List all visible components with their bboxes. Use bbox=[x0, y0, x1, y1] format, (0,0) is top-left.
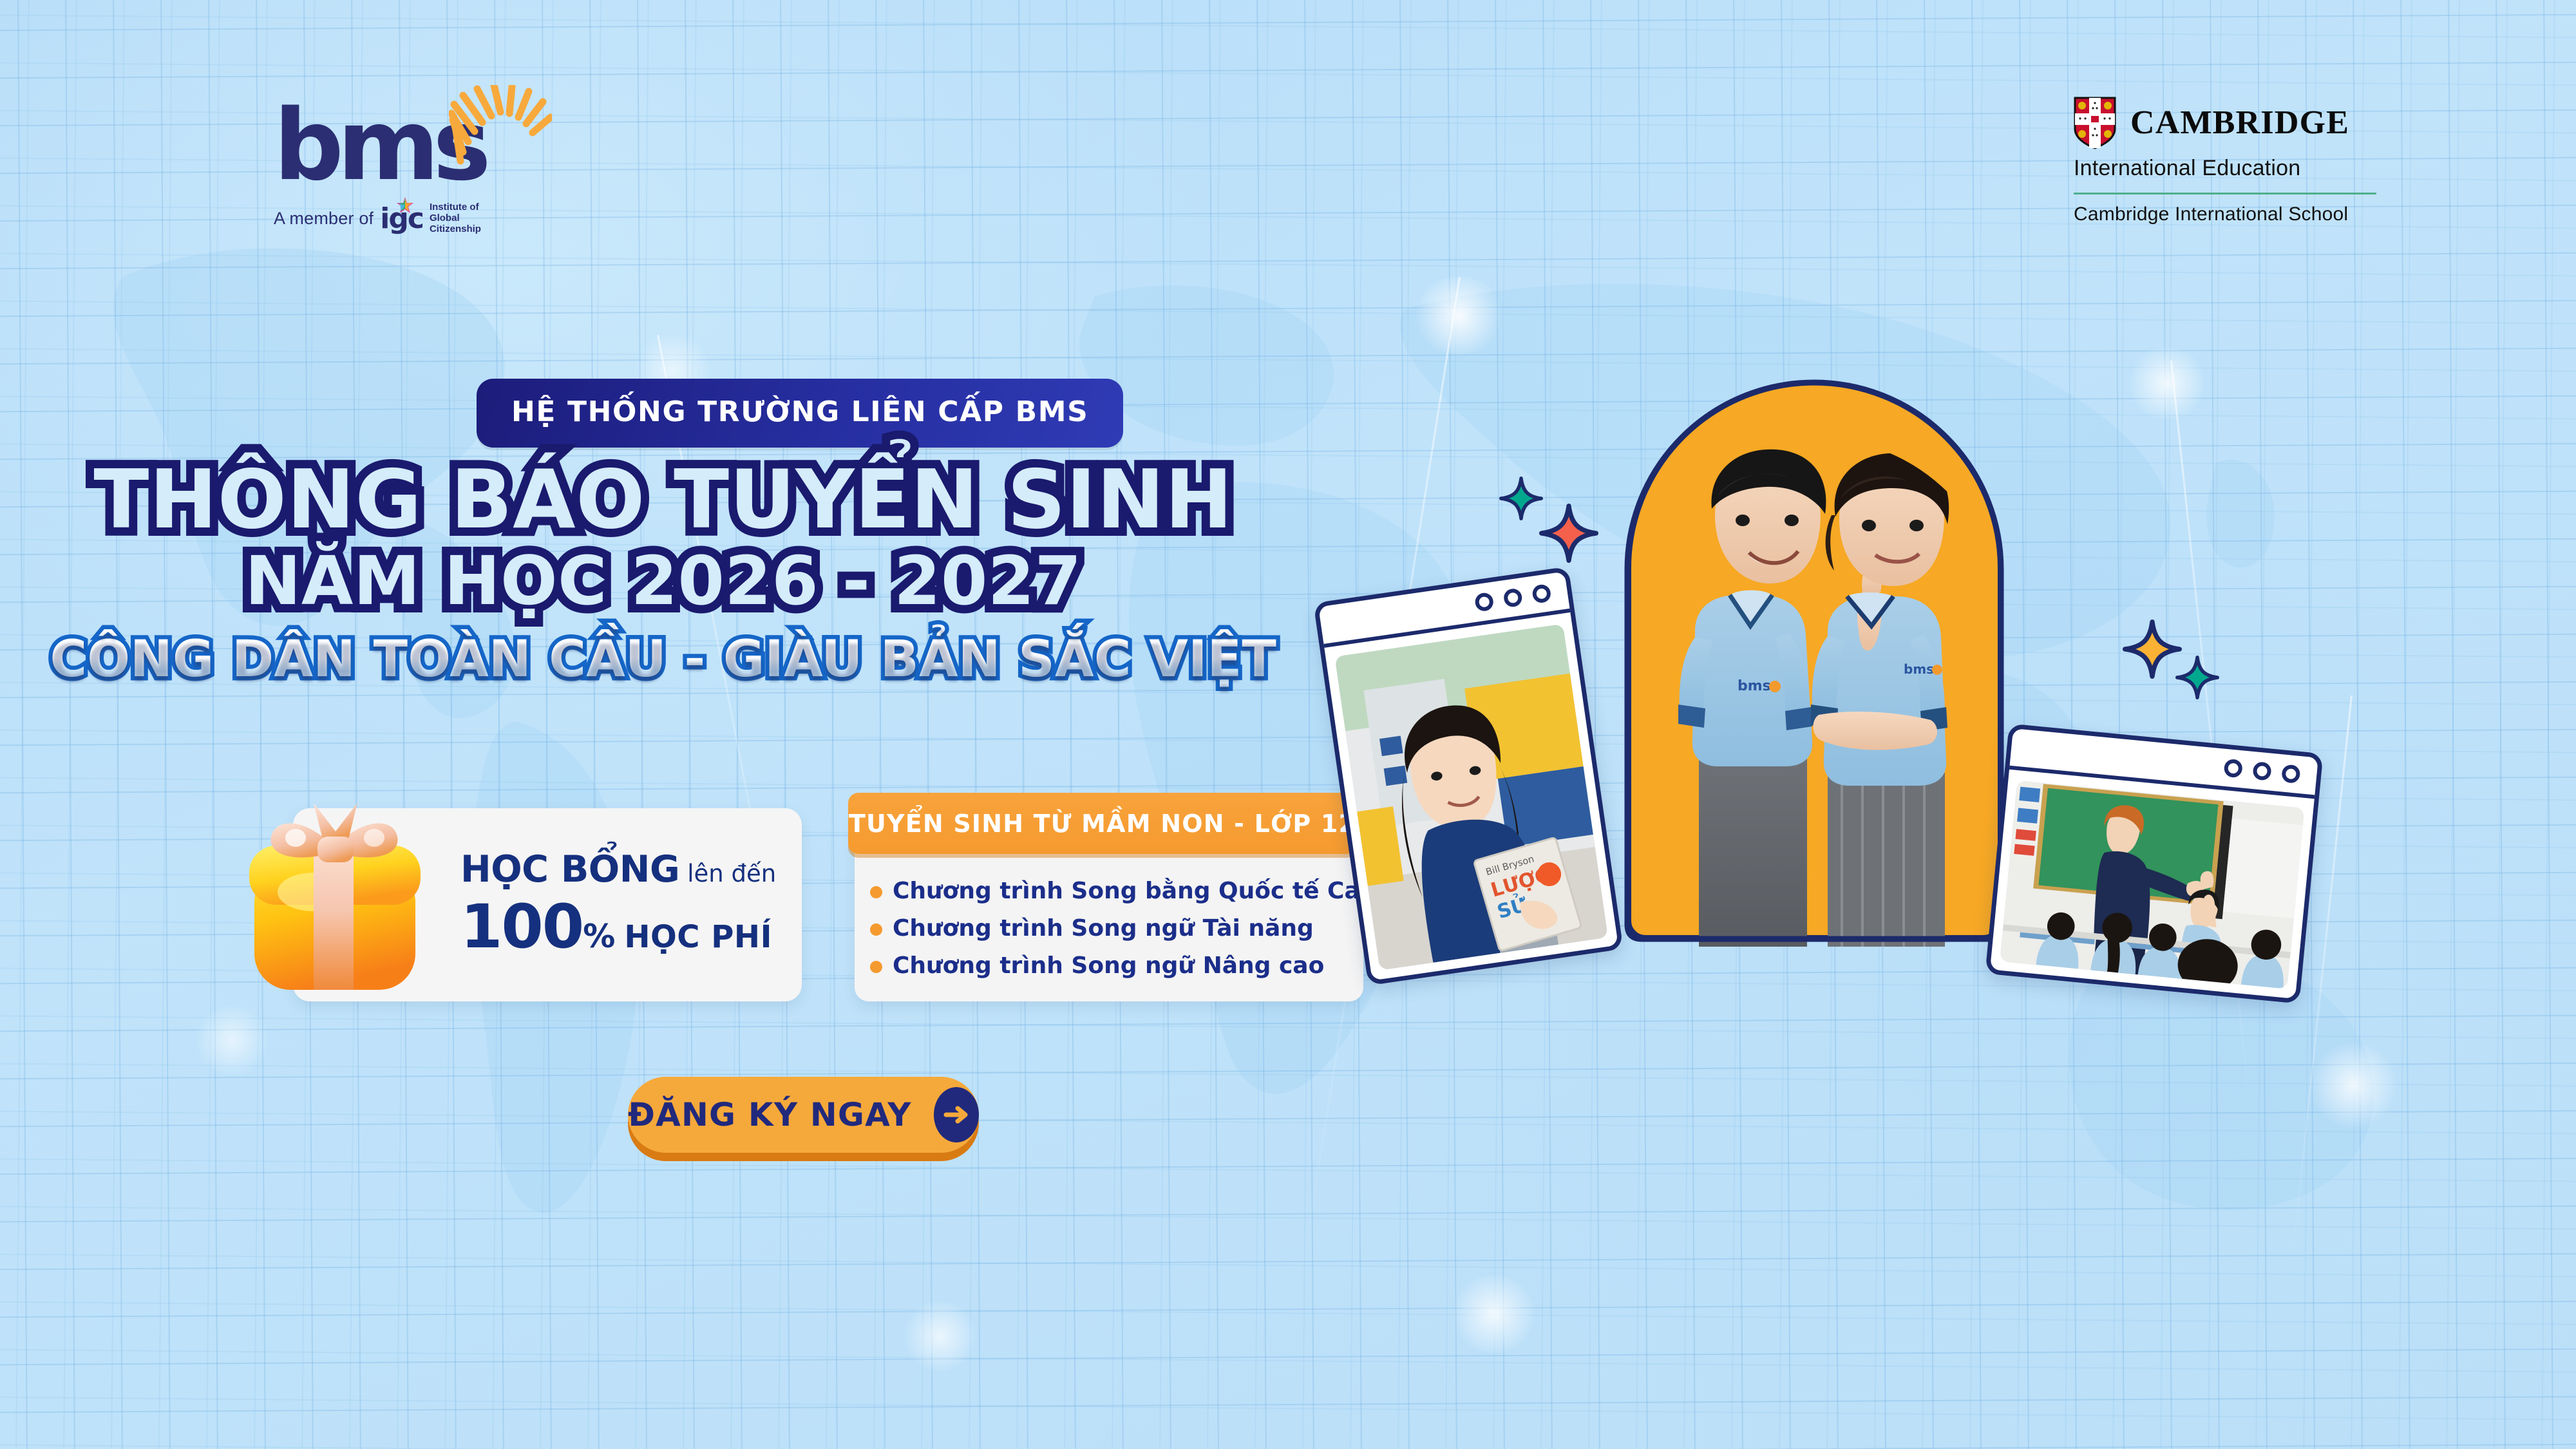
bullet-dot-icon bbox=[870, 961, 882, 973]
window-dot-icon bbox=[1474, 592, 1495, 612]
cambridge-subtitle: International Education bbox=[2074, 156, 2376, 181]
igc-star-icon bbox=[397, 197, 413, 214]
bg-glow bbox=[193, 1005, 270, 1075]
sunburst-icon bbox=[449, 85, 552, 169]
program-label: Chương trình Song ngữ Nâng cao bbox=[893, 952, 1324, 979]
headline-line-1: THÔNG BÁO TUYỂN SINH bbox=[0, 454, 1327, 545]
window-dot-icon bbox=[1531, 583, 1552, 604]
bms-member-line: A member of igc Institute of Global Citi… bbox=[274, 202, 557, 235]
scholarship-label: HỌC BỔNG bbox=[460, 848, 679, 891]
cambridge-school-label: Cambridge International School bbox=[2074, 204, 2376, 225]
window-dot-icon bbox=[2223, 759, 2243, 779]
scholarship-card: HỌC BỔNGlên đến 100%HỌC PHÍ bbox=[293, 808, 802, 1001]
sparkle-teal-icon bbox=[1499, 477, 1543, 520]
cambridge-name: CAMBRIDGE bbox=[2130, 106, 2349, 140]
tuition-label: HỌC PHÍ bbox=[624, 919, 772, 955]
programs-list: Chương trình Song bằng Quốc tế Cambrige … bbox=[870, 878, 1359, 990]
sparkle-teal-icon bbox=[2175, 656, 2219, 699]
svg-text:bms: bms bbox=[1904, 661, 1934, 677]
member-of-label: A member of bbox=[274, 209, 374, 229]
arrow-right-icon bbox=[934, 1087, 979, 1142]
headline-tagline: CÔNG DÂN TOÀN CẦU - GIÀU BẢN SẮC VIỆT CÔ… bbox=[0, 630, 1327, 688]
register-now-label: ĐĂNG KÝ NGAY bbox=[628, 1096, 912, 1133]
eyebrow-badge: HỆ THỐNG TRƯỜNG LIÊN CẤP BMS bbox=[477, 379, 1123, 448]
info-cards: HỌC BỔNGlên đến 100%HỌC PHÍ TUYỂN SINH T… bbox=[293, 808, 1363, 1001]
tagline-fill-layer: CÔNG DÂN TOÀN CẦU - GIÀU BẢN SẮC VIỆT bbox=[0, 630, 1327, 688]
igc-tagline: Institute of Global Citizenship bbox=[430, 202, 481, 234]
gift-box-icon bbox=[241, 797, 435, 1003]
right-photo-card[interactable] bbox=[1985, 723, 2323, 1003]
bullet-dot-icon bbox=[870, 886, 882, 898]
sparkle-yellow-icon bbox=[2123, 620, 2182, 679]
list-item[interactable]: Chương trình Song ngữ Tài năng bbox=[870, 915, 1359, 942]
window-dot-icon bbox=[1502, 587, 1523, 608]
list-item[interactable]: Chương trình Song bằng Quốc tế Cambrige bbox=[870, 878, 1359, 904]
bg-glow bbox=[902, 1301, 979, 1372]
register-now-button[interactable]: ĐĂNG KÝ NGAY bbox=[628, 1077, 979, 1153]
percent-symbol: % bbox=[583, 918, 615, 955]
scholarship-amount: 100 bbox=[460, 892, 583, 962]
classroom-photo bbox=[2000, 781, 2304, 989]
window-dot-icon bbox=[2281, 764, 2301, 784]
igc-wordmark: igc bbox=[380, 202, 423, 235]
programs-header-label: TUYỂN SINH TỪ MẦM NON - LỚP 12 bbox=[849, 810, 1356, 838]
student-book-photo: Bill Bryson LƯỢC SỬ bbox=[1334, 624, 1608, 971]
programs-header: TUYỂN SINH TỪ MẦM NON - LỚP 12 bbox=[848, 793, 1357, 854]
bms-logo[interactable]: bms A member of igc bbox=[274, 97, 557, 251]
headline-block: HỆ THỐNG TRƯỜNG LIÊN CẤP BMS THÔNG BÁO T… bbox=[0, 361, 1327, 688]
bullet-dot-icon bbox=[870, 923, 882, 936]
window-dot-icon bbox=[2252, 761, 2272, 781]
svg-text:bms: bms bbox=[1738, 678, 1771, 694]
bg-glow bbox=[1449, 1275, 1539, 1352]
sparkle-coral-icon bbox=[1539, 504, 1598, 563]
cambridge-crest-icon bbox=[2074, 97, 2116, 149]
headline-line-2: NĂM HỌC 2026 - 2027 bbox=[0, 541, 1327, 621]
list-item[interactable]: Chương trình Song ngữ Nâng cao bbox=[870, 952, 1359, 979]
photo-collage: bms bbox=[1346, 361, 2351, 1018]
cambridge-logo[interactable]: CAMBRIDGE International Education Cambri… bbox=[2074, 97, 2376, 225]
students-photo: bms bbox=[1623, 438, 2009, 947]
program-label: Chương trình Song ngữ Tài năng bbox=[893, 915, 1314, 942]
bg-glow bbox=[2306, 1043, 2402, 1127]
divider bbox=[2074, 193, 2376, 194]
scholarship-text: HỌC BỔNGlên đến 100%HỌC PHÍ bbox=[460, 848, 776, 962]
scholarship-suffix: lên đến bbox=[687, 860, 776, 887]
left-photo-card[interactable]: Bill Bryson LƯỢC SỬ bbox=[1313, 567, 1623, 986]
programs-card: TUYỂN SINH TỪ MẦM NON - LỚP 12 Chương tr… bbox=[855, 808, 1363, 1001]
